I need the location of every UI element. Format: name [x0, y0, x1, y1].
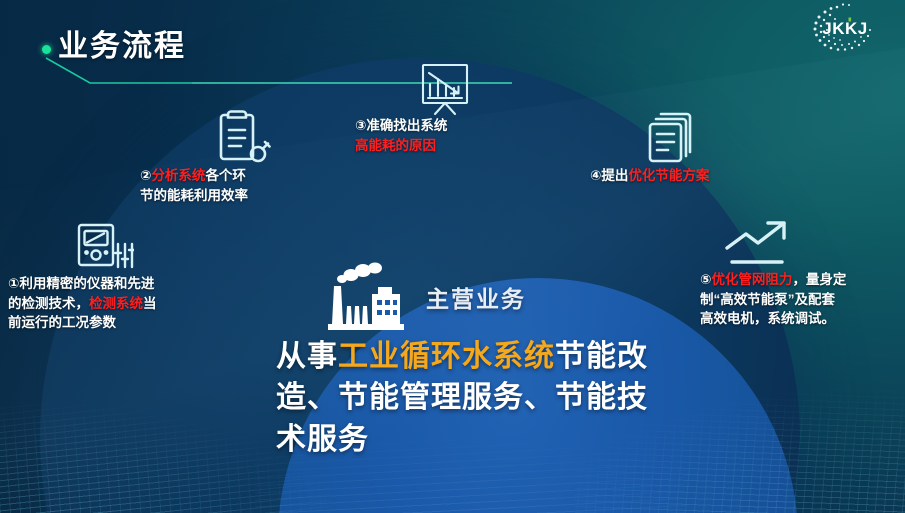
slide-title-group: 业务流程: [42, 32, 186, 62]
plain-text: 造、节能管理服务、节能技: [276, 381, 648, 414]
highlight-text: 高能耗的原因: [355, 138, 436, 153]
step-2-line: 节的能耗利用效率: [140, 186, 271, 206]
plain-text: ⑤: [700, 272, 711, 287]
highlight-text: 分析系统: [151, 168, 205, 183]
step-1-line: 前运行的工况参数: [8, 313, 157, 333]
plain-text: 节能改: [555, 340, 648, 373]
step-5-line: 高效电机，系统调试。: [700, 309, 846, 329]
declining-chart-board-icon: [417, 62, 473, 116]
step-1-line: 的检测技术，检测系统当: [8, 294, 157, 314]
main-business-label: 主营业务: [426, 280, 526, 314]
step-5-line: 制“高效节能泵”及配套: [700, 290, 846, 310]
main-business-line: 术服务: [276, 419, 676, 460]
main-business-line: 从事工业循环水系统节能改: [276, 336, 676, 377]
main-business-line: 造、节能管理服务、节能技: [276, 377, 676, 418]
plain-text: ①利用精密的仪器和先进: [8, 276, 154, 291]
main-business-header: 主营业务: [320, 262, 526, 332]
plain-text: ③准确找出系统: [355, 118, 447, 133]
plain-text: ②: [140, 168, 151, 183]
step-5-line: ⑤优化管网阻力，量身定: [700, 270, 846, 290]
highlight-text: 工业循环水系统: [338, 340, 555, 373]
plain-text: 节的能耗利用效率: [140, 188, 248, 203]
plain-text: 从事: [276, 340, 338, 373]
plain-text: 前运行的工况参数: [8, 315, 116, 330]
highlight-text: 优化节能方案: [628, 168, 709, 183]
step-5-text: ⑤优化管网阻力，量身定制“高效节能泵”及配套高效电机，系统调试。: [700, 270, 846, 329]
slide-canvas: 业务流程 JKKJ: [0, 0, 905, 513]
step-2-text: ②分析系统各个环节的能耗利用效率: [140, 166, 271, 205]
clipboard-search-icon: [215, 108, 271, 166]
documents-stack-icon: [645, 108, 701, 166]
step-3-block[interactable]: ③准确找出系统高能耗的原因: [355, 62, 473, 155]
step-5-block[interactable]: ⑤优化管网阻力，量身定制“高效节能泵”及配套高效电机，系统调试。: [700, 218, 846, 329]
factory-icon: [320, 262, 412, 332]
highlight-text: 检测系统: [89, 296, 143, 311]
step-2-block[interactable]: ②分析系统各个环节的能耗利用效率: [140, 108, 271, 205]
step-4-text: ④提出优化节能方案: [590, 166, 709, 186]
svg-text:JKKJ: JKKJ: [822, 19, 867, 38]
step-1-text: ①利用精密的仪器和先进的检测技术，检测系统当前运行的工况参数: [8, 274, 157, 333]
plain-text: 术服务: [276, 423, 369, 456]
main-business-text: 从事工业循环水系统节能改造、节能管理服务、节能技术服务: [276, 336, 676, 460]
highlight-text: 优化管网阻力: [711, 272, 792, 287]
plain-text: 各个环: [205, 168, 246, 183]
plain-text: ，量身定: [792, 272, 846, 287]
trend-up-arrow-icon: [722, 218, 798, 270]
plain-text: 的检测技术，: [8, 296, 89, 311]
step-2-line: ②分析系统各个环: [140, 166, 271, 186]
step-1-line: ①利用精密的仪器和先进: [8, 274, 157, 294]
step-1-block[interactable]: ①利用精密的仪器和先进的检测技术，检测系统当前运行的工况参数: [8, 222, 157, 333]
step-3-text: ③准确找出系统高能耗的原因: [355, 116, 473, 155]
brand-logo[interactable]: JKKJ: [803, 2, 883, 56]
step-3-line: 高能耗的原因: [355, 136, 473, 156]
step-4-line: ④提出优化节能方案: [590, 166, 709, 186]
plain-text: ④提出: [590, 168, 628, 183]
multimeter-icon: [76, 222, 134, 274]
jkkj-logo-icon: JKKJ: [803, 2, 883, 56]
plain-text: 当: [143, 296, 157, 311]
plain-text: 高效电机，系统调试。: [700, 311, 835, 326]
step-3-line: ③准确找出系统: [355, 116, 473, 136]
plain-text: 制“高效节能泵”及配套: [700, 292, 835, 307]
title-bullet-dot: [42, 45, 51, 54]
step-4-block[interactable]: ④提出优化节能方案: [590, 108, 709, 186]
